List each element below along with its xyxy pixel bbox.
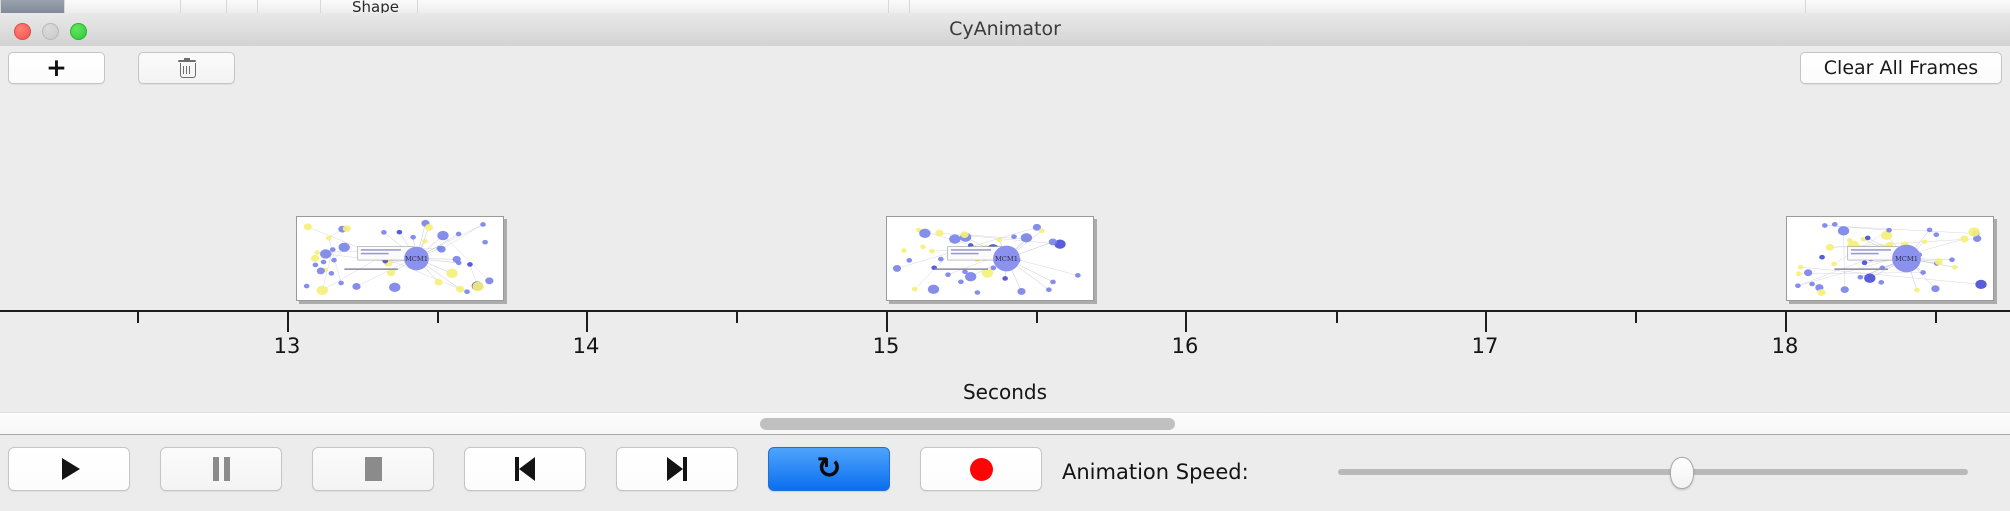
- bg-chip: [257, 0, 321, 14]
- ruler-tick-label: 15: [873, 334, 900, 358]
- timeline-ruler-line: [0, 310, 2010, 312]
- play-icon: [59, 458, 80, 480]
- clear-all-frames-button[interactable]: Clear All Frames: [1800, 52, 2002, 84]
- bg-chip: [909, 0, 1806, 14]
- bg-chip: [1805, 0, 2010, 14]
- ruler-tick-minor: [1336, 312, 1338, 323]
- pause-button[interactable]: [160, 447, 282, 491]
- record-icon: [970, 458, 993, 481]
- cyanimator-window: Shape CyAnimator + Clear All Frames MCM1…: [0, 0, 2010, 510]
- timeline-frames-area[interactable]: MCM1MCM1MCM1: [0, 88, 2010, 313]
- keyframe-thumbnail-1[interactable]: MCM1: [296, 216, 504, 301]
- stop-button[interactable]: [312, 447, 434, 491]
- ruler-tick-major: [1785, 312, 1787, 332]
- delete-frame-button[interactable]: [138, 52, 235, 84]
- bg-chip: [64, 0, 181, 14]
- play-button[interactable]: [8, 447, 130, 491]
- axis-title: Seconds: [0, 380, 2010, 404]
- slider-track[interactable]: [1338, 469, 1968, 475]
- skip-end-button[interactable]: [616, 447, 738, 491]
- ruler-tick-minor: [1935, 312, 1937, 323]
- ruler-tick-label: 17: [1472, 334, 1499, 358]
- loop-button[interactable]: ↻: [768, 447, 890, 491]
- skip-end-icon: [667, 457, 687, 481]
- frame-network-graph: MCM1: [297, 217, 503, 300]
- stop-icon: [365, 457, 382, 481]
- ruler-tick-minor: [736, 312, 738, 323]
- ruler-tick-major: [586, 312, 588, 332]
- ruler-tick-label: 13: [274, 334, 301, 358]
- slider-knob[interactable]: [1670, 457, 1694, 489]
- frame-toolbar: + Clear All Frames: [0, 46, 2010, 89]
- svg-text:MCM1: MCM1: [1895, 255, 1918, 263]
- ruler-tick-major: [886, 312, 888, 332]
- svg-text:MCM1: MCM1: [995, 255, 1018, 263]
- ruler-tick-label: 18: [1772, 334, 1799, 358]
- title-bar[interactable]: CyAnimator: [0, 13, 2010, 47]
- bg-chip-selected: [0, 0, 65, 14]
- loop-icon: ↻: [816, 454, 841, 484]
- add-frame-button[interactable]: +: [8, 52, 105, 84]
- bg-chip: [417, 0, 889, 14]
- record-button[interactable]: [920, 447, 1042, 491]
- clear-all-frames-label: Clear All Frames: [1824, 57, 1978, 79]
- plus-icon: +: [46, 55, 67, 80]
- ruler-tick-label: 14: [573, 334, 600, 358]
- scrollbar-track[interactable]: [0, 413, 2010, 435]
- keyframe-thumbnail-3[interactable]: MCM1: [1786, 216, 1994, 301]
- bg-chip: [226, 0, 258, 14]
- scrollbar-thumb[interactable]: [760, 418, 1175, 430]
- ruler-tick-major: [1185, 312, 1187, 332]
- bg-chip: [888, 0, 910, 14]
- animation-speed-slider[interactable]: [1338, 434, 1968, 510]
- frame-network-graph: MCM1: [887, 217, 1093, 300]
- frame-network-graph: MCM1: [1787, 217, 1993, 300]
- svg-text:MCM1: MCM1: [405, 255, 428, 263]
- window-title: CyAnimator: [0, 13, 2010, 46]
- timeline-scrollbar[interactable]: [0, 412, 2010, 435]
- skip-start-icon: [515, 457, 535, 481]
- ruler-tick-minor: [1036, 312, 1038, 323]
- pause-icon: [213, 457, 230, 481]
- ruler-tick-minor: [137, 312, 139, 323]
- skip-start-button[interactable]: [464, 447, 586, 491]
- ruler-tick-minor: [437, 312, 439, 323]
- ruler-tick-major: [287, 312, 289, 332]
- ruler-tick-minor: [1635, 312, 1637, 323]
- trash-icon: [178, 58, 196, 78]
- ruler-tick-major: [1485, 312, 1487, 332]
- ruler-tick-label: 16: [1172, 334, 1199, 358]
- animation-speed-label: Animation Speed:: [1062, 434, 1249, 510]
- bg-chip: [180, 0, 227, 14]
- keyframe-thumbnail-2[interactable]: MCM1: [886, 216, 1094, 301]
